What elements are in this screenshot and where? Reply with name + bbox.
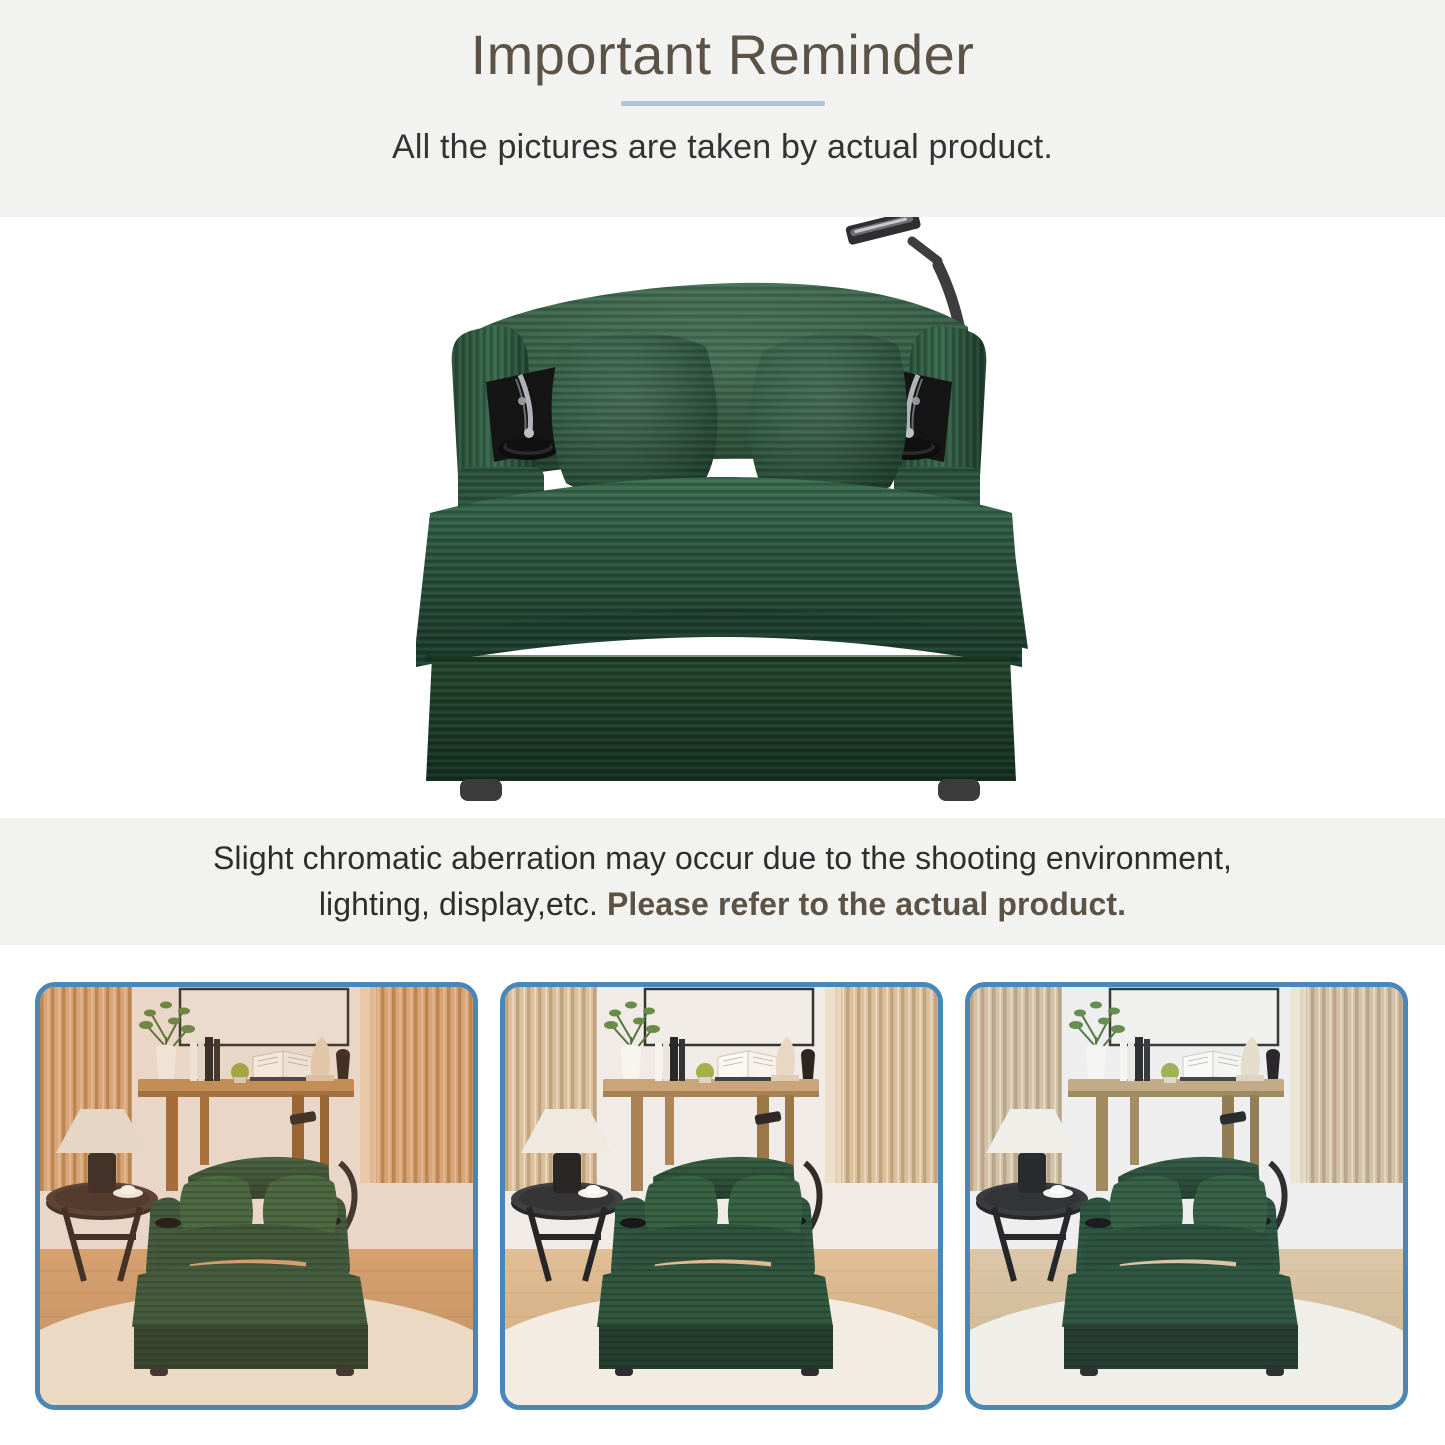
room-scene-panel-2[interactable] [500,982,943,1410]
room-scene-panel-1[interactable] [35,982,478,1410]
throw-pillow-right [750,333,907,499]
room-scene-illustration-2 [505,987,938,1405]
hero-product-image [0,217,1445,818]
header-band: Important Reminder All the pictures are … [0,0,1445,217]
room-scene-gallery [0,982,1445,1412]
note-line-2: lighting, display,etc. Please refer to t… [319,882,1126,927]
header-subtitle: All the pictures are taken by actual pro… [392,106,1053,167]
infographic-page: Important Reminder All the pictures are … [0,0,1445,1445]
chaise-lounge-illustration [0,217,1445,818]
chromatic-aberration-note: Slight chromatic aberration may occur du… [0,818,1445,945]
sofa-base [426,655,1018,781]
note-line-2-emphasis: Please refer to the actual product. [607,886,1126,922]
note-line-1: Slight chromatic aberration may occur du… [213,836,1232,881]
note-line-2-normal: lighting, display,etc. [319,886,607,922]
room-scene-illustration-3 [970,987,1403,1405]
room-scene-illustration-1 [40,987,473,1405]
room-scene-panel-3[interactable] [965,982,1408,1410]
throw-pillow-left [552,334,718,499]
page-title: Important Reminder [471,0,975,87]
